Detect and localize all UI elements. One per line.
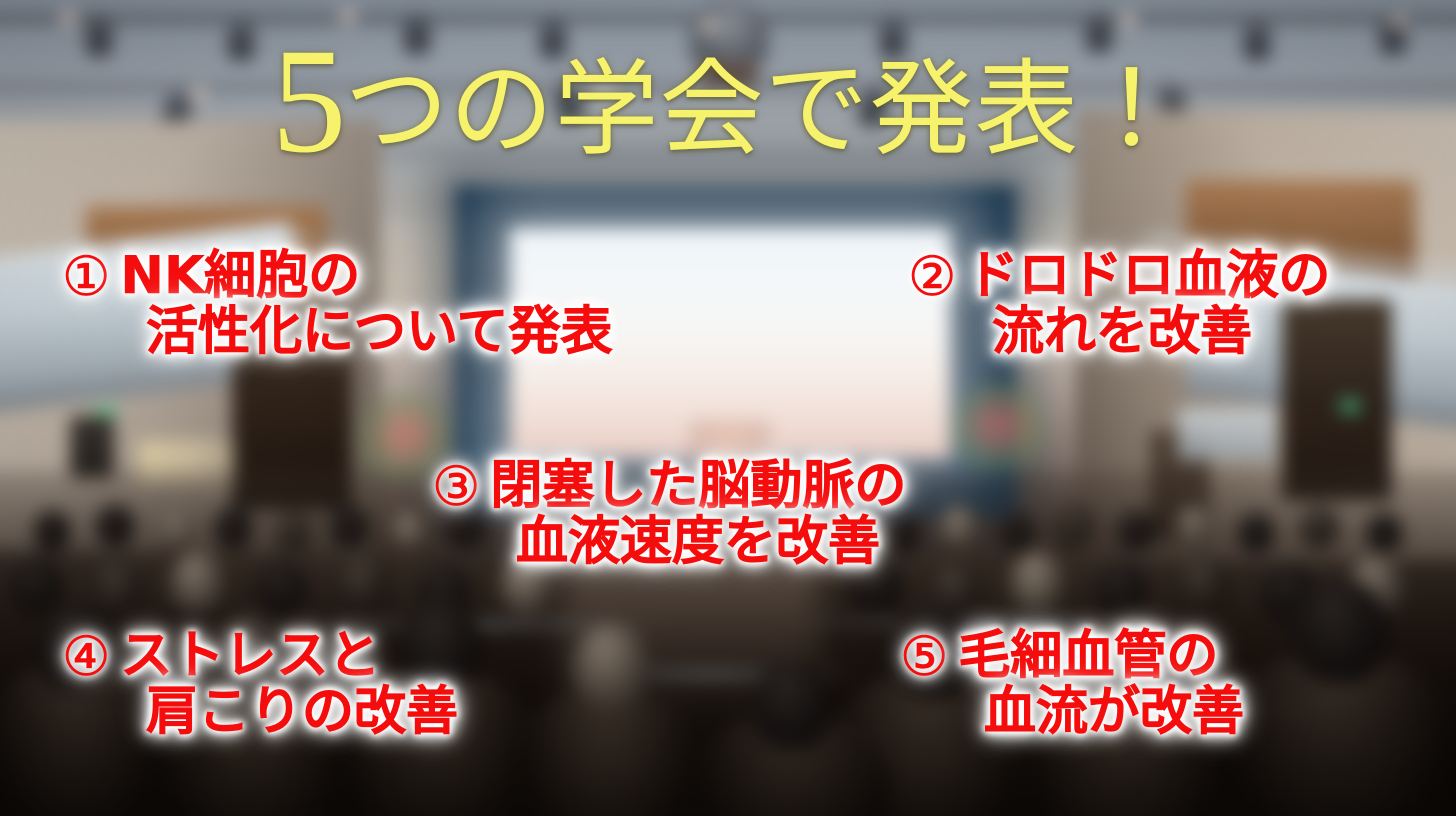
audience-head: [92, 560, 142, 616]
audience-head: [1176, 506, 1212, 546]
ceiling-light-dot: [596, 82, 612, 98]
audience-head: [276, 512, 310, 550]
seat-row: [790, 620, 1150, 625]
audience-head: [160, 512, 194, 550]
ceiling-fixture-icon: [690, 0, 768, 64]
benefit-item-2-line1: ドロドロ血液の: [966, 246, 1330, 306]
benefit-item-5-line1: 毛細血管の: [958, 626, 1218, 686]
circled-number-5-icon: ⑤: [900, 628, 948, 685]
poster-canvas: 5つの学会で発表！ ①NK細胞の 活性化について発表 ②ドロドロ血液の 流れを改…: [0, 0, 1456, 816]
benefit-item-5: ⑤毛細血管の 血流が改善: [900, 628, 1244, 740]
spotlight-icon: [1086, 18, 1112, 52]
audience-head: [96, 504, 134, 546]
ceiling-light-dot: [700, 18, 716, 34]
audience-head: [752, 660, 832, 748]
exit-sign-icon: [1340, 400, 1360, 413]
spotlight-icon: [86, 22, 112, 56]
audience-head: [940, 506, 978, 548]
spotlight-icon: [880, 24, 906, 58]
audience-head: [1000, 512, 1034, 550]
benefit-item-5-line2: 血流が改善: [900, 685, 1244, 740]
audience-head: [170, 552, 224, 612]
spotlight-icon: [404, 20, 430, 54]
audience-head: [1054, 504, 1092, 546]
benefit-item-2-line2: 流れを改善: [908, 305, 1330, 360]
circled-number-2-icon: ②: [908, 248, 956, 305]
ceiling-light-dot: [1120, 12, 1136, 28]
audience-head: [330, 504, 368, 546]
spotlight-icon: [540, 24, 566, 58]
benefit-item-3-line2: 血液速度を改善: [432, 515, 906, 570]
audience-head: [1300, 506, 1338, 548]
ceiling-light-dot: [1390, 14, 1406, 30]
circled-number-1-icon: ①: [62, 248, 110, 305]
audience-head: [392, 512, 426, 550]
benefit-item-3-line1: 閉塞した脳動脈の: [490, 456, 906, 516]
wall-monitor: [1178, 408, 1276, 460]
audience-head: [34, 510, 70, 550]
audience-head: [1096, 560, 1146, 616]
audience-head: [336, 554, 390, 614]
benefit-item-3: ③閉塞した脳動脈の 血液速度を改善: [432, 458, 906, 570]
audience-head: [1176, 554, 1230, 614]
benefit-item-1-line1: NK細胞の: [120, 246, 360, 306]
audience-head: [10, 556, 62, 614]
circled-number-3-icon: ③: [432, 458, 480, 515]
benefit-item-1: ①NK細胞の 活性化について発表: [62, 248, 612, 360]
audience-head: [572, 624, 648, 708]
benefit-item-4-line2: 肩こりの改善: [62, 685, 458, 740]
benefit-item-4-line1: ストレスと: [120, 626, 380, 686]
audience-head: [1292, 578, 1388, 682]
spotlight-icon: [228, 26, 254, 60]
ceiling-light-dot: [1020, 80, 1036, 96]
benefit-item-2: ②ドロドロ血液の 流れを改善: [908, 248, 1330, 360]
benefit-item-1-line2: 活性化について発表: [62, 305, 612, 360]
benefit-item-4: ④ストレスと 肩こりの改善: [62, 628, 458, 740]
wall-speaker: [70, 416, 114, 478]
spotlight-icon: [1244, 26, 1270, 60]
circled-number-4-icon: ④: [62, 628, 110, 685]
ceiling-light-dot: [190, 86, 206, 102]
audience-head: [214, 506, 252, 548]
flower-arrangement: [950, 382, 1046, 478]
ceiling-light-dot: [60, 10, 76, 26]
audience-head: [256, 560, 306, 616]
audience-head: [1118, 510, 1154, 550]
ceiling-light-dot: [340, 8, 356, 24]
audience-head: [1366, 512, 1402, 552]
audience-head: [1238, 512, 1274, 552]
audience-head: [1010, 552, 1064, 612]
